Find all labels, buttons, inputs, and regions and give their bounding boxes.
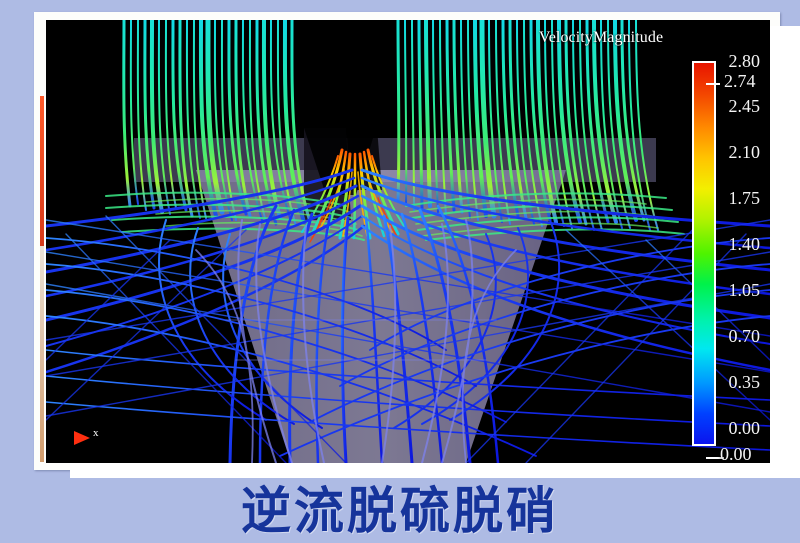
left-edge-strip-lower bbox=[40, 246, 44, 462]
cfd-viewport[interactable]: VelocityMagnitude 2.74 0.00 2.80 2.45 2.… bbox=[46, 20, 770, 463]
axis-orientation-widget[interactable]: x bbox=[48, 418, 108, 458]
slide-root: VelocityMagnitude 2.74 0.00 2.80 2.45 2.… bbox=[0, 0, 800, 542]
streamline-render bbox=[46, 20, 770, 463]
slide-caption: 逆流脱硫脱硝 bbox=[0, 472, 800, 542]
left-edge-scroll-strip bbox=[40, 96, 44, 246]
axis-label-x: x bbox=[93, 427, 99, 439]
